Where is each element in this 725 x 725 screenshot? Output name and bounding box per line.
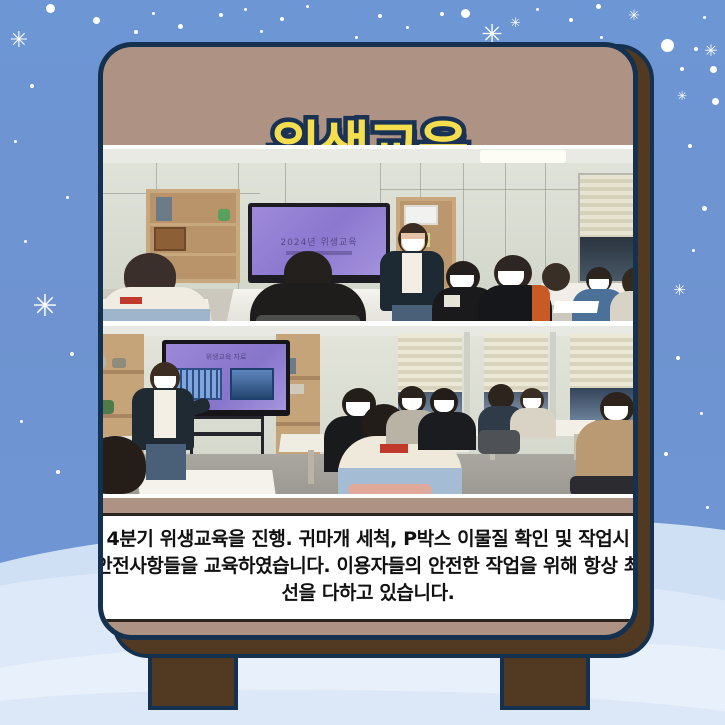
photo-window-blinds: [484, 334, 548, 392]
photo-display-cart-shelf: [192, 432, 262, 436]
snow-dot-icon: [56, 470, 60, 474]
winter-notice-poster: ✳✳✳✳✳✳✳✳ 위생교육 2024년 위생교육 위생교육 자료 4분기 위생교…: [0, 0, 725, 725]
snow-dot-icon: [24, 240, 27, 243]
photo-attendee-body-accent: [100, 309, 210, 321]
photo-chair-back: [478, 430, 520, 454]
photo-attendee-body: [418, 412, 476, 450]
snow-dot-icon: [712, 98, 719, 105]
caption-box: 4분기 위생교육을 진행. 귀마개 세척, P박스 이물질 확인 및 작업시 안…: [98, 513, 638, 622]
photo-ceiling-light: [480, 150, 566, 163]
photo-stack: 2024년 위생교육 위생교육 자료: [98, 145, 638, 498]
photo-shelf-item: [112, 358, 126, 368]
board-leg-left: [148, 650, 238, 710]
snow-dot-icon: [710, 66, 717, 73]
snowflake-icon: ✳: [30, 292, 60, 322]
photo-shelf-divider: [98, 370, 144, 374]
snow-dot-icon: [692, 249, 695, 252]
snowflake-icon: ✳: [509, 17, 522, 30]
hygiene-training-photo-bottom: 위생교육 자료: [98, 326, 638, 494]
snow-dot-icon: [134, 30, 138, 34]
snow-dot-icon: [93, 17, 100, 24]
photo-attendee-badge: [444, 295, 460, 307]
snow-dot-icon: [676, 356, 680, 360]
snow-dot-icon: [152, 12, 155, 15]
snow-dot-icon: [14, 140, 17, 143]
snow-dot-icon: [536, 8, 539, 11]
photo-slide-panel-image: [232, 370, 272, 398]
photo-attendee-mask: [604, 406, 628, 420]
photo-shelf-divider: [276, 422, 320, 426]
snow-dot-icon: [260, 30, 263, 33]
photo-chair-back: [256, 315, 360, 321]
hygiene-training-photo-top: 2024년 위생교육: [98, 149, 638, 321]
snow-dot-icon: [20, 420, 23, 423]
photo-cabinet-seam: [380, 189, 580, 190]
photo-presenter-shirt-open: [154, 390, 176, 438]
snow-dot-icon: [378, 14, 382, 18]
photo-shelf-photo-frame: [404, 205, 438, 225]
photo-attendee-body: [610, 291, 638, 321]
photo-attendee-mask: [402, 398, 422, 410]
snow-dot-icon: [680, 67, 684, 71]
snow-dot-icon: [600, 36, 603, 39]
photo-attendee-mask: [498, 271, 524, 286]
photo-table-leg: [308, 450, 314, 484]
snow-dot-icon: [219, 13, 223, 17]
snow-dot-icon: [66, 196, 69, 199]
photo-shelf-item: [98, 356, 106, 368]
notice-board: 위생교육 2024년 위생교육 위생교육 자료 4분기 위생교육을 진행. 귀마…: [98, 42, 638, 640]
snow-dot-icon: [596, 4, 601, 9]
snow-dot-icon: [661, 39, 674, 52]
snowflake-icon: ✳: [8, 30, 30, 52]
caption-text: 4분기 위생교육을 진행. 귀마개 세척, P박스 이물질 확인 및 작업시 안…: [98, 526, 638, 607]
snow-dot-icon: [280, 17, 284, 21]
photo-book-set: [156, 197, 172, 221]
snow-dot-icon: [440, 12, 444, 16]
photo-paper-on-table: [553, 301, 599, 313]
snow-dot-icon: [664, 452, 668, 456]
snow-dot-icon: [461, 9, 470, 18]
photo-attendee-head: [542, 263, 570, 291]
snow-dot-icon: [706, 506, 709, 509]
photo-shelf-plant: [98, 400, 114, 414]
snow-dot-icon: [569, 18, 573, 22]
photo-attendee-logo: [120, 297, 142, 304]
snow-dot-icon: [702, 206, 707, 211]
board-leg-right: [500, 650, 590, 710]
photo-attendee-stripe: [532, 285, 550, 321]
snow-dot-icon: [244, 8, 247, 11]
photo-window-frame: [578, 173, 638, 283]
photo-attendee-mask: [434, 400, 454, 412]
snow-hill-crease: [0, 680, 725, 725]
photo-window-blinds: [398, 334, 462, 392]
snow-dot-icon: [694, 47, 698, 51]
snow-dot-icon: [70, 352, 74, 356]
photo-presenter-jeans: [392, 305, 434, 321]
photo-attendee-logo: [380, 444, 408, 453]
snowflake-icon: ✳: [676, 90, 688, 102]
snow-dot-icon: [178, 24, 183, 29]
snow-dot-icon: [688, 144, 692, 148]
snowflake-icon: ✳: [703, 43, 719, 59]
photo-chair: [348, 484, 432, 494]
photo-shelf-divider: [150, 223, 236, 226]
snow-dot-icon: [355, 36, 358, 39]
photo-framed-certificate: [154, 227, 186, 251]
photo-chair: [570, 476, 638, 494]
photo-display-screen-text: 2024년 위생교육: [252, 235, 386, 248]
photo-window-blinds: [570, 334, 638, 388]
photo-desk-object: [218, 209, 230, 221]
snow-dot-icon: [306, 5, 309, 8]
photo-display-screen-text: 위생교육 자료: [166, 352, 286, 362]
photo-cabinet-seam: [98, 163, 99, 291]
snow-dot-icon: [46, 4, 55, 13]
snowflake-icon: ✳: [627, 9, 641, 23]
snow-dot-icon: [30, 84, 34, 88]
photo-presenter-jeans: [146, 444, 186, 480]
snow-dot-icon: [703, 16, 706, 19]
snow-dot-icon: [700, 412, 703, 415]
photo-presenter-shirt-open: [402, 253, 422, 293]
snowflake-icon: ✳: [672, 283, 687, 298]
photo-attendee-body: [576, 420, 638, 482]
snow-dot-icon: [406, 26, 409, 29]
